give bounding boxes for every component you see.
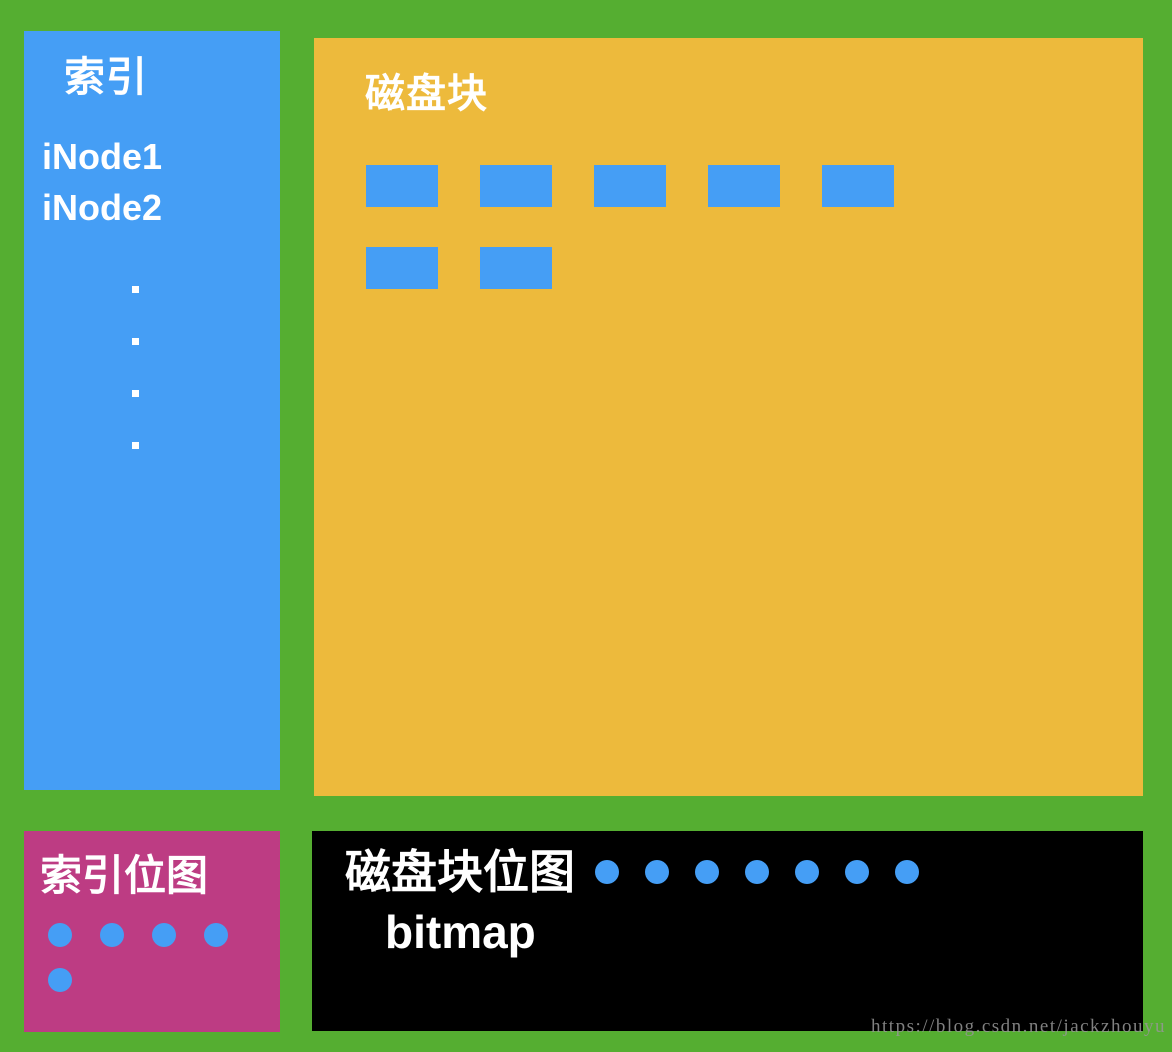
bitmap-dot <box>595 860 619 884</box>
bitmap-dot <box>795 860 819 884</box>
diagram-canvas: 索引 iNode1 iNode2 磁盘块 <box>0 0 1172 1052</box>
disk-block-panel-title: 磁盘块 <box>365 74 488 114</box>
inode-list: iNode1 iNode2 <box>42 131 272 233</box>
index-panel-title: 索引 <box>64 57 148 98</box>
bitmap-dot <box>48 968 72 992</box>
disk-block <box>594 165 666 207</box>
ellipsis-dot <box>132 390 139 397</box>
disk-bitmap-subtitle: bitmap <box>385 909 1143 955</box>
index-panel: 索引 iNode1 iNode2 <box>24 31 280 790</box>
ellipsis-dot <box>132 286 139 293</box>
index-bitmap-dots <box>48 923 272 1013</box>
disk-block <box>480 247 552 289</box>
inode-entry: iNode2 <box>42 182 272 233</box>
disk-block-grid <box>366 165 1106 329</box>
bitmap-dot <box>745 860 769 884</box>
disk-block-panel: 磁盘块 <box>314 38 1143 796</box>
disk-block <box>708 165 780 207</box>
index-bitmap-dot-row <box>48 923 272 947</box>
disk-block-row <box>366 247 1106 289</box>
bitmap-dot <box>48 923 72 947</box>
ellipsis-dot <box>132 442 139 449</box>
disk-block-row <box>366 165 1106 207</box>
disk-block <box>366 247 438 289</box>
disk-bitmap-dots <box>595 860 945 884</box>
disk-bitmap-header: 磁盘块位图 <box>345 849 1143 895</box>
disk-block <box>822 165 894 207</box>
bitmap-dot <box>845 860 869 884</box>
bitmap-dot <box>895 860 919 884</box>
index-bitmap-dot-row <box>48 968 272 992</box>
ellipsis-dot <box>132 338 139 345</box>
inode-ellipsis <box>132 286 139 494</box>
bitmap-dot <box>100 923 124 947</box>
bitmap-dot <box>152 923 176 947</box>
inode-entry: iNode1 <box>42 131 272 182</box>
disk-bitmap-title: 磁盘块位图 <box>345 849 575 895</box>
index-bitmap-title: 索引位图 <box>40 855 208 897</box>
bitmap-dot <box>204 923 228 947</box>
index-bitmap-panel: 索引位图 <box>24 831 280 1032</box>
disk-bitmap-content: 磁盘块位图 bitmap <box>345 849 1143 1031</box>
bitmap-dot <box>695 860 719 884</box>
bitmap-dot <box>645 860 669 884</box>
disk-block <box>480 165 552 207</box>
disk-bitmap-panel: 磁盘块位图 bitmap <box>312 831 1143 1031</box>
disk-block <box>366 165 438 207</box>
watermark: https://blog.csdn.net/jackzhouyu <box>871 1016 1166 1038</box>
